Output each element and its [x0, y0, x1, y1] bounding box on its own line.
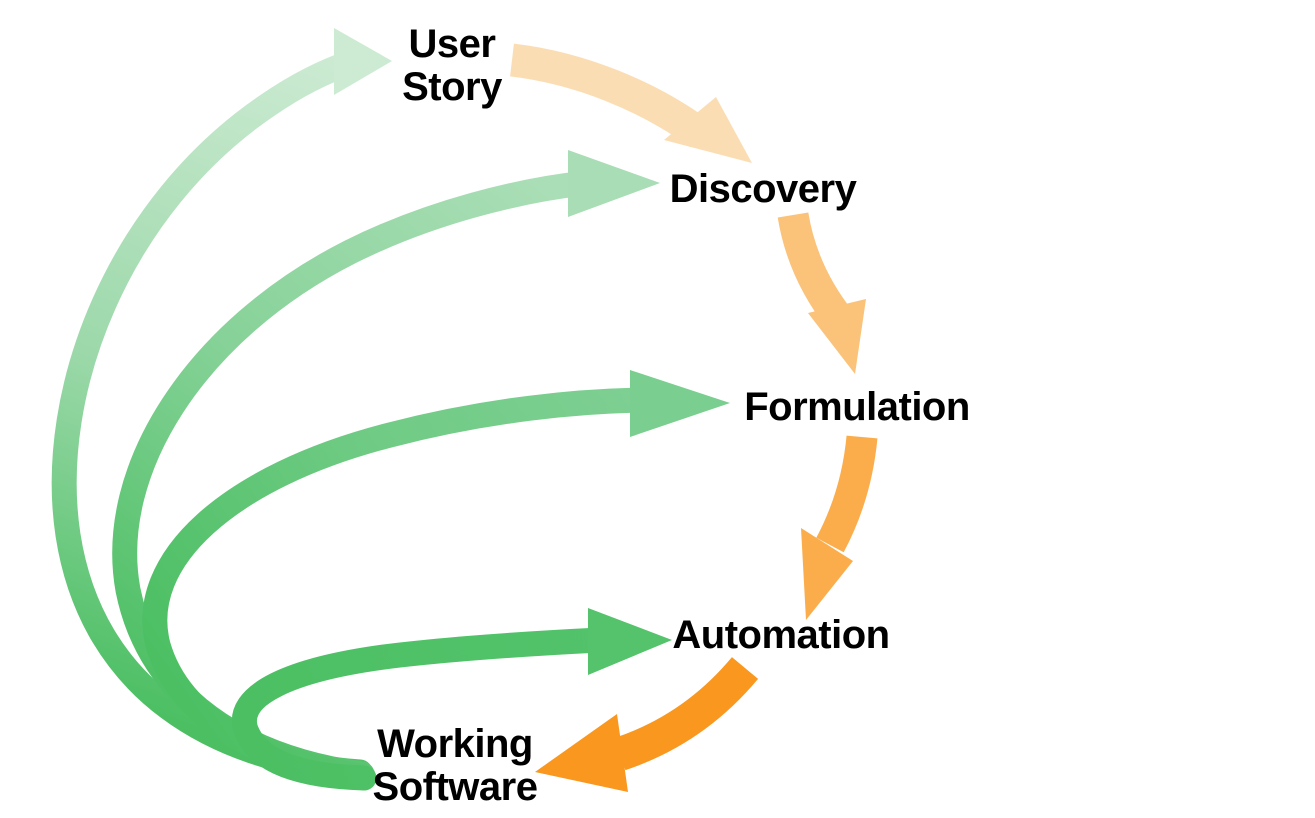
arrow-discovery-to-formulation [793, 215, 866, 374]
bdd-cycle-diagram: User Story Discovery Formulation Automat… [0, 0, 1315, 818]
diagram-canvas [0, 0, 1315, 818]
arrow-automation-to-working-software [535, 668, 745, 792]
node-label-automation: Automation [671, 614, 891, 657]
arrow-working-software-to-discovery [125, 150, 660, 774]
node-label-discovery: Discovery [663, 168, 863, 211]
node-label-user-story: User Story [352, 23, 552, 109]
arrow-formulation-to-automation [801, 437, 862, 620]
node-label-formulation: Formulation [737, 386, 977, 429]
node-label-working-software: Working Software [355, 723, 555, 809]
